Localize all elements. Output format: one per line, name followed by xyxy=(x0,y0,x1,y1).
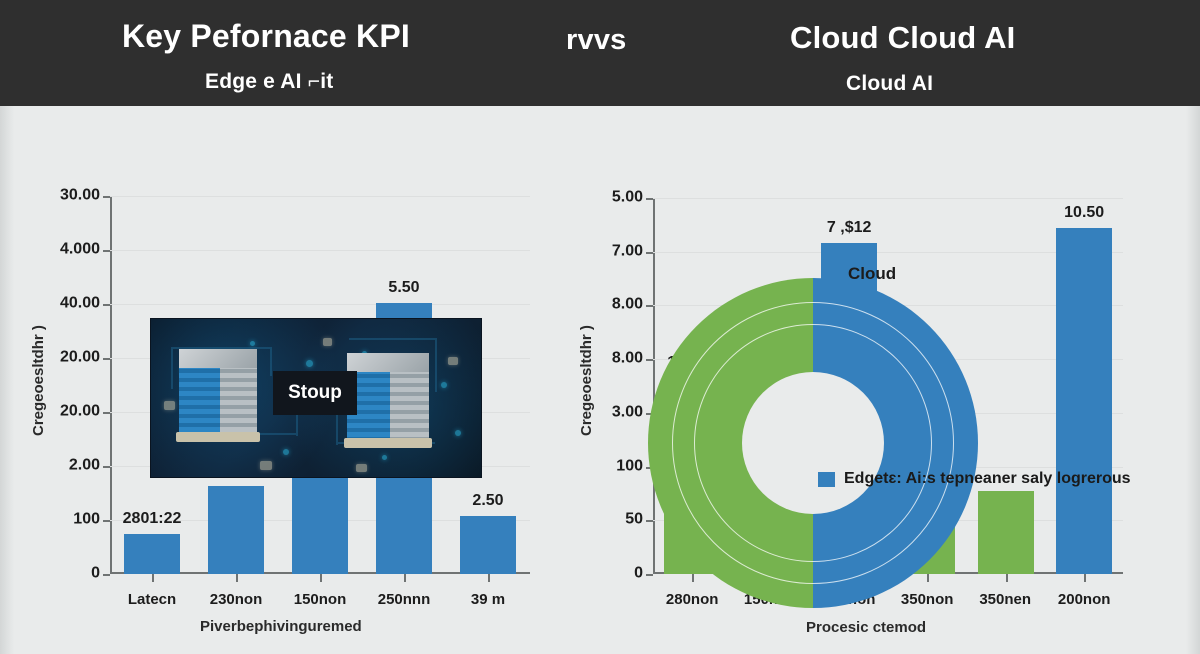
y-axis-tick xyxy=(103,412,110,414)
y-axis-tick-label: 50 xyxy=(625,511,643,529)
header-right-subtitle: Cloud AI xyxy=(846,72,933,96)
x-axis-category-label: 200non xyxy=(1045,591,1123,608)
embedded-image-label: Stoup xyxy=(273,371,357,415)
y-axis-tick xyxy=(103,304,110,306)
y-axis-tick xyxy=(103,196,110,198)
x-axis-tick xyxy=(236,574,238,582)
gridline xyxy=(110,304,530,305)
embedded-illustration: Stoup xyxy=(150,318,482,478)
y-axis-tick xyxy=(103,358,110,360)
y-axis-tick xyxy=(103,466,110,468)
x-axis-tick xyxy=(152,574,154,582)
gridline xyxy=(110,250,530,251)
x-axis-tick xyxy=(1006,574,1008,582)
x-axis-category-label: 39 m xyxy=(446,591,530,608)
y-axis-tick-label: 8.00 xyxy=(612,296,643,314)
gridline xyxy=(653,198,1123,199)
donut-chart xyxy=(648,278,978,608)
y-axis-tick-label: 0 xyxy=(91,565,100,583)
y-axis-tick-label: 8.00 xyxy=(612,350,643,368)
header-bar: Key Pefornace KPI Edge e AI ⌐it rvvs Clo… xyxy=(0,0,1200,106)
y-axis-tick-label: 7.00 xyxy=(612,243,643,261)
x-axis-tick xyxy=(1084,574,1086,582)
y-axis-tick xyxy=(103,520,110,522)
legend-color-swatch-icon xyxy=(818,472,835,487)
datacenter-building-left-icon xyxy=(179,349,257,435)
y-axis-tick-label: 30.00 xyxy=(60,187,100,205)
bar[interactable] xyxy=(124,534,180,574)
y-axis-tick-label: 40.00 xyxy=(60,295,100,313)
y-axis-tick-label: 0 xyxy=(634,565,643,583)
y-axis-tick xyxy=(646,252,653,254)
y-axis-tick-label: 20.00 xyxy=(60,349,100,367)
header-left-subtitle: Edge e AI ⌐it xyxy=(205,70,333,94)
y-axis-tick-label: 100 xyxy=(616,458,643,476)
bar-value-label: 10.50 xyxy=(1045,204,1123,222)
slide-canvas: Key Pefornace KPI Edge e AI ⌐it rvvs Clo… xyxy=(0,0,1200,654)
bar-value-label: 2.50 xyxy=(446,492,530,510)
y-axis-tick-label: 4.000 xyxy=(60,241,100,259)
donut-hole xyxy=(742,372,884,514)
header-middle-title: rvvs xyxy=(566,24,626,57)
y-axis-tick-label: 100 xyxy=(73,511,100,529)
right-chart-x-axis-title: Procesic ctemod xyxy=(806,619,926,636)
x-axis-category-label: 250nnn xyxy=(362,591,446,608)
y-axis-tick-label: 3.00 xyxy=(612,404,643,422)
legend-entry-label: Edgetɛ: Ai:s tepneaner saly loɡrerous xyxy=(844,470,1131,488)
gridline xyxy=(110,196,530,197)
header-right-title: Cloud Cloud AI xyxy=(790,20,1016,56)
x-axis-tick xyxy=(488,574,490,582)
left-chart-panel: Cregeoesltdhr ) Piverbephivinguremed 30.… xyxy=(0,106,600,654)
x-axis-category-label: Latecn xyxy=(110,591,194,608)
bar[interactable] xyxy=(460,516,516,574)
bar-value-label: 5.50 xyxy=(362,279,446,297)
x-axis-tick xyxy=(320,574,322,582)
x-axis-category-label: 230non xyxy=(194,591,278,608)
y-axis-tick-label: 20.00 xyxy=(60,403,100,421)
y-axis-tick-label: 5.00 xyxy=(612,189,643,207)
gridline xyxy=(653,252,1123,253)
y-axis-tick-label: 2.00 xyxy=(69,457,100,475)
content-area: Cregeoesltdhr ) Piverbephivinguremed 30.… xyxy=(0,106,1200,654)
right-chart-y-axis-title: Cregeoesltdhr ) xyxy=(578,325,595,436)
bar[interactable] xyxy=(208,486,264,574)
x-axis-tick xyxy=(404,574,406,582)
bar-value-label: 7 ,$12 xyxy=(810,219,888,237)
left-chart-x-axis-title: Piverbephivinguremed xyxy=(200,618,362,635)
y-axis-tick xyxy=(103,250,110,252)
bar[interactable] xyxy=(978,491,1034,574)
header-left-title: Key Pefornace KPI xyxy=(122,18,410,55)
donut-chart-legend: Edgetɛ: Ai:s tepneaner saly loɡrerous xyxy=(818,470,1131,488)
y-axis-tick xyxy=(103,574,110,576)
x-axis-category-label: 150non xyxy=(278,591,362,608)
datacenter-building-right-icon xyxy=(347,353,429,441)
y-axis-tick xyxy=(646,198,653,200)
left-chart-y-axis-title: Cregeoesltdhr ) xyxy=(30,325,47,436)
bar-value-label: 2801:22 xyxy=(110,510,194,528)
bar[interactable] xyxy=(1056,228,1112,574)
